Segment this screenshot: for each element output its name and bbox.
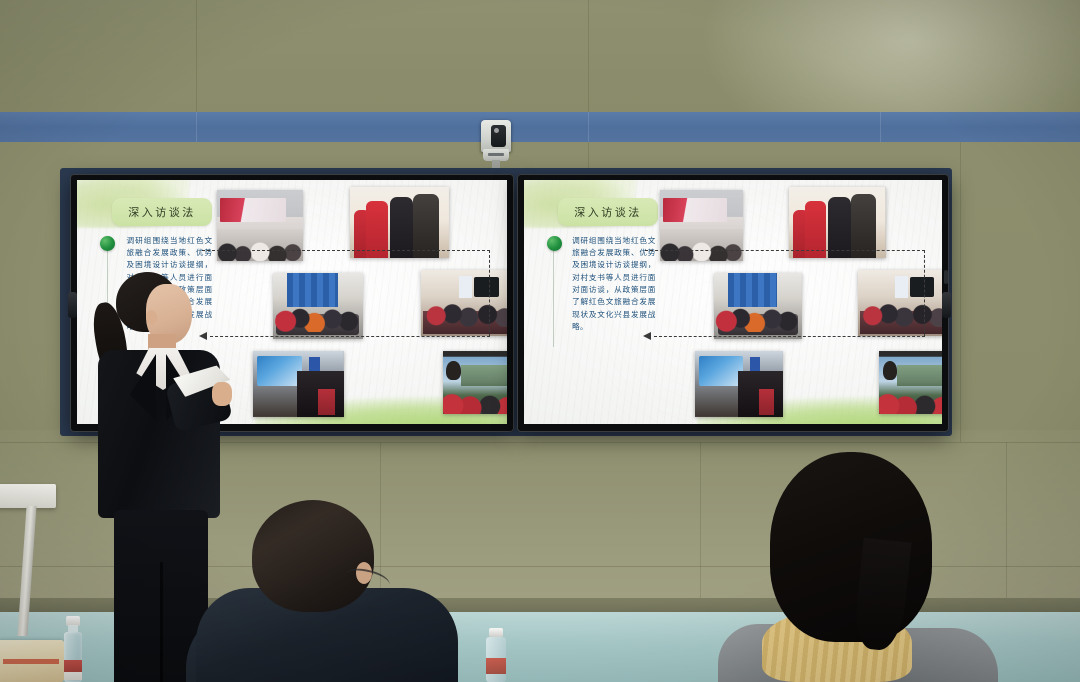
display-side-button[interactable] [68,292,77,318]
slide-canvas-right: 深入访谈法 调研组围绕当地红色文旅融合发展政策、优势及困境设计访谈提纲，对村支书… [524,180,942,424]
camera-mount [492,160,500,168]
audience-member-left [196,500,458,682]
wall-panel-seam [960,142,961,442]
wall-panel-seam [700,442,701,598]
flow-dashed-top [645,250,925,251]
flow-dashed-right [924,250,925,338]
water-bottle-center [486,628,506,682]
camera-lens-icon [491,125,506,147]
white-side-table [0,484,56,508]
flow-dashed-top [202,250,490,251]
flow-dashed-right [489,250,490,338]
paper-bag [0,640,64,682]
slide-photo-5 [695,351,783,417]
flow-dashed-bottom [210,336,490,337]
slide-title: 深入访谈法 [112,198,212,226]
flow-dashed-bottom [654,336,926,337]
slide-photo-4 [858,270,942,336]
wall-panel-seam [196,0,197,112]
slide-photo-4 [421,270,507,336]
flow-arrow-head-icon [643,332,651,340]
water-bottle-left [64,616,82,682]
right-display-screen: 深入访谈法 调研组围绕当地红色文旅融合发展政策、优势及困境设计访谈提纲，对村支书… [524,180,942,424]
audience-member-right [718,452,1018,682]
slide-photo-6 [879,351,942,414]
slide-photo-2 [350,187,449,258]
slide-photo-3 [714,273,802,339]
conference-camera [478,118,514,168]
bottle-cap-icon [489,628,503,637]
slide-title: 深入访谈法 [558,198,658,226]
wall-panel-seam [588,0,589,112]
display-side-button[interactable] [942,292,951,318]
slide-photo-3 [273,273,363,339]
slide-photo-6 [443,351,508,414]
camera-body-icon [481,120,511,152]
audience-left-head [252,500,374,612]
presenter-trouser-seam [160,562,163,682]
slide-photo-5 [253,351,343,417]
wall-accent-band [0,112,1080,142]
upper-wall [0,0,1080,112]
presenter-ear [146,310,157,325]
display-speaker-icon [944,270,948,284]
slide-photo-2 [789,187,885,258]
bullet-stem-line [553,250,554,348]
presentation-room-scene: 深入访谈法 调研组围绕当地红色文旅融合发展政策、优势及困境设计访谈提纲，对村支书… [0,0,1080,682]
slide-body-text: 调研组围绕当地红色文旅融合发展政策、优势及困境设计访谈提纲，对村支书等人员进行面… [572,235,656,333]
presenter-hand [212,382,232,406]
right-display-panel[interactable]: 深入访谈法 调研组围绕当地红色文旅融合发展政策、优势及困境设计访谈提纲，对村支书… [517,174,949,432]
